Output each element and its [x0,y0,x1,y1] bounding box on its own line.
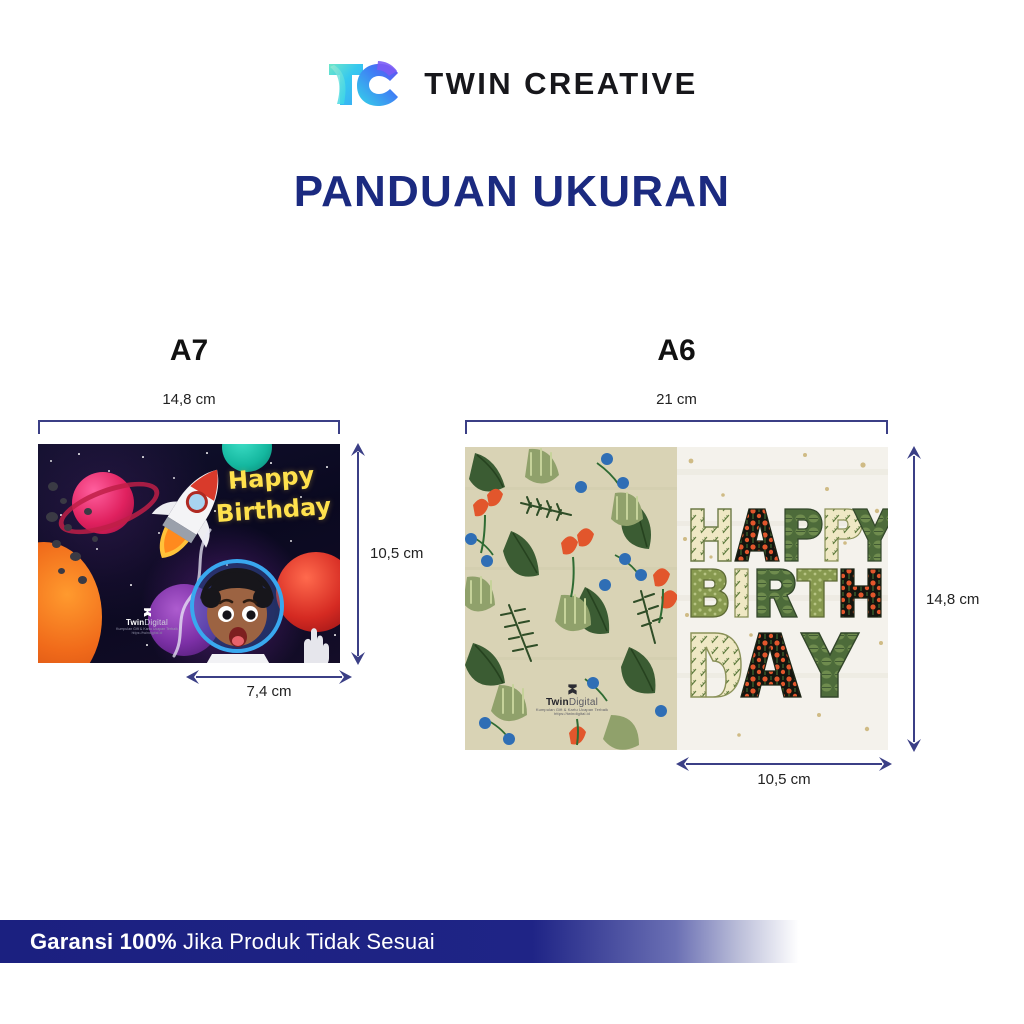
guarantee-highlight: Garansi 100% [30,929,177,954]
a6-width-arrow-left [676,756,690,772]
a6-width-line [686,763,882,765]
brand-name: TWIN CREATIVE [424,68,697,99]
a6-height-line [913,456,915,742]
size-guide-page: TWIN CREATIVE PANDUAN UKURAN A7 14,8 cm [0,0,1024,1024]
a7-watermark: TwinDigital Kumpulan Gift & Kartu Ucapan… [110,607,184,635]
guarantee-text: Garansi 100% Jika Produk Tidak Sesuai [30,929,435,955]
a6-watermark-sub2: https://twindigital.id [527,712,617,716]
guarantee-banner: Garansi 100% Jika Produk Tidak Sesuai [0,920,1024,963]
a7-height-arrow-down [350,651,366,665]
a7-astronaut-glove [296,622,332,663]
a6-top-bracket [465,420,888,434]
a6-height-arrow-up [906,446,922,460]
a6-card-preview: TwinDigital Kumpulan Gift & Kartu Ucapan… [465,447,888,750]
a7-height-arrow-up [350,443,366,457]
a7-bottom-dimension: 7,4 cm [186,684,352,699]
a7-width-line [196,676,342,678]
a7-top-bracket [38,420,340,434]
page-title: PANDUAN UKURAN [0,170,1024,214]
twin-digital-logo-icon [567,683,578,696]
a7-width-arrow-left [186,669,200,685]
a6-side-dimension: 14,8 cm [926,592,1016,607]
a6-pattern-panel: TwinDigital Kumpulan Gift & Kartu Ucapan… [465,447,677,750]
a6-width-arrow-right [878,756,892,772]
a7-height-line [357,452,359,656]
a7-card-preview: Happy Birthday [38,444,340,663]
a7-top-dimension: 14,8 cm [38,392,340,407]
guarantee-rest: Jika Produk Tidak Sesuai [177,929,435,954]
brand-header: TWIN CREATIVE [0,52,1024,114]
a6-height-arrow-down [906,738,922,752]
a6-top-dimension: 21 cm [465,392,888,407]
a7-side-dimension: 10,5 cm [370,546,450,561]
a6-greeting-panel [677,447,889,750]
a7-width-arrow-right [338,669,352,685]
a6-bottom-dimension: 10,5 cm [676,772,892,787]
a6-greeting-lettering [677,447,889,750]
size-label-a7: A7 [38,336,340,366]
tc-monogram-icon [326,58,402,108]
a7-astronaut-illustration [178,554,296,663]
twin-digital-logo-icon [143,607,152,618]
size-label-a6: A6 [465,336,888,366]
a6-watermark: TwinDigital Kumpulan Gift & Kartu Ucapan… [527,683,617,717]
a7-watermark-sub2: https://twindigital.id [110,632,184,636]
